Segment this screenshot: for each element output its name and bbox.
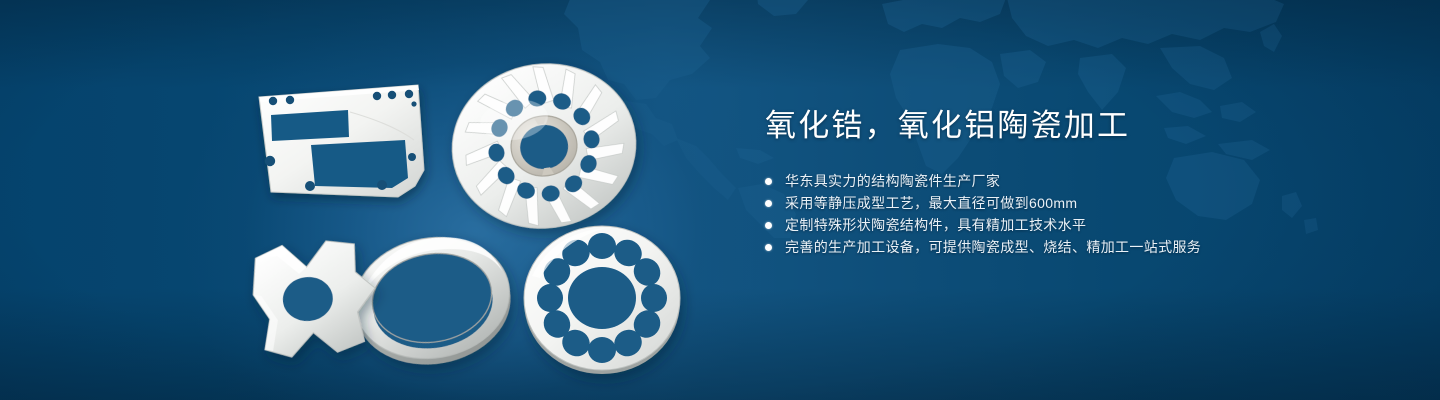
list-item-label: 完善的生产加工设备，可提供陶瓷成型、烧结、精加工一站式服务 xyxy=(785,236,1201,258)
list-item: 采用等静压成型工艺，最大直径可做到600mm xyxy=(765,192,1385,214)
bullet-dot-icon xyxy=(765,178,772,185)
list-item-label: 华东具实力的结构陶瓷件生产厂家 xyxy=(785,170,1000,192)
hero-banner: 氧化锆，氧化铝陶瓷加工 华东具实力的结构陶瓷件生产厂家 采用等静压成型工艺，最大… xyxy=(0,0,1440,400)
list-item: 完善的生产加工设备，可提供陶瓷成型、烧结、精加工一站式服务 xyxy=(765,236,1385,258)
bullet-dot-icon xyxy=(765,200,772,207)
list-item-label: 采用等静压成型工艺，最大直径可做到600mm xyxy=(785,192,1077,214)
list-item: 华东具实力的结构陶瓷件生产厂家 xyxy=(765,170,1385,192)
feature-list: 华东具实力的结构陶瓷件生产厂家 采用等静压成型工艺，最大直径可做到600mm 定… xyxy=(765,170,1385,258)
bullet-dot-icon xyxy=(765,222,772,229)
page-title: 氧化锆，氧化铝陶瓷加工 xyxy=(765,106,1385,146)
list-item-label: 定制特殊形状陶瓷结构件，具有精加工技术水平 xyxy=(785,214,1086,236)
list-item: 定制特殊形状陶瓷结构件，具有精加工技术水平 xyxy=(765,214,1385,236)
banner-copy: 氧化锆，氧化铝陶瓷加工 华东具实力的结构陶瓷件生产厂家 采用等静压成型工艺，最大… xyxy=(765,106,1385,258)
bullet-dot-icon xyxy=(765,244,772,251)
